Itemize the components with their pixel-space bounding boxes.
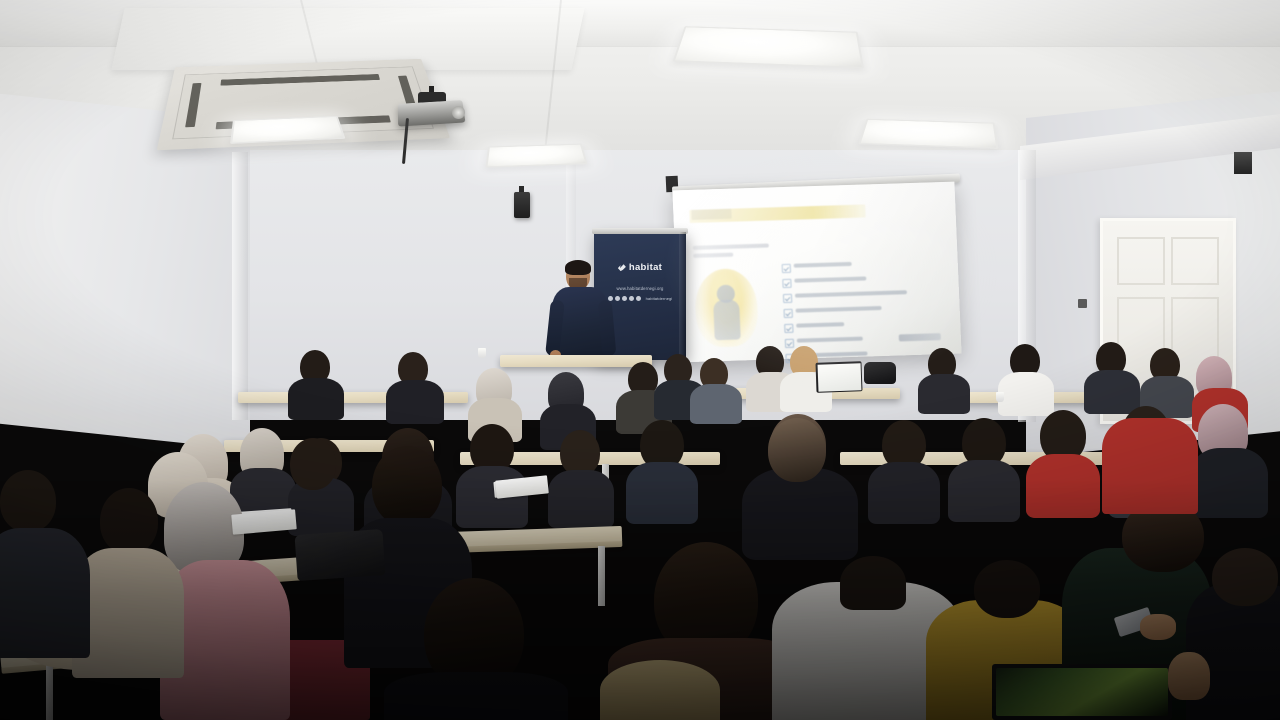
led-panel-light bbox=[485, 144, 587, 168]
tablet-display bbox=[996, 668, 1168, 716]
handbag bbox=[295, 529, 386, 581]
portrait-body bbox=[713, 300, 741, 341]
person-body bbox=[548, 470, 614, 528]
person-body bbox=[1084, 370, 1140, 414]
slide-title-text bbox=[691, 209, 731, 220]
room: habitat www.habitatdernegi.org habitatde… bbox=[0, 0, 1280, 720]
projector-lens-icon bbox=[452, 106, 465, 119]
handbag bbox=[864, 362, 896, 384]
projection-screen[interactable] bbox=[672, 182, 961, 363]
youtube-icon bbox=[629, 296, 634, 301]
person-head bbox=[372, 446, 442, 526]
paper-cup bbox=[996, 392, 1004, 402]
instagram-icon bbox=[622, 296, 627, 301]
person-body bbox=[1190, 448, 1268, 518]
banner-social-handle: habitatdernegi bbox=[646, 296, 673, 301]
slide-portrait-illustration bbox=[694, 268, 759, 348]
person-head bbox=[600, 660, 720, 720]
led-panel-light bbox=[858, 119, 998, 149]
check-box-icon bbox=[782, 279, 791, 288]
person-body bbox=[626, 462, 698, 524]
bullet-text bbox=[794, 262, 852, 268]
notebook-papers bbox=[495, 475, 549, 498]
person-head bbox=[100, 488, 158, 554]
slide-footer-logo bbox=[899, 333, 941, 341]
desk-leg bbox=[46, 660, 53, 720]
person-body bbox=[456, 466, 528, 528]
presentation-slide bbox=[683, 200, 953, 354]
check-box-icon bbox=[783, 294, 792, 303]
bullet-text bbox=[796, 306, 882, 313]
person-body bbox=[868, 462, 940, 524]
door-panel-top-left bbox=[1117, 237, 1165, 285]
person-head bbox=[1212, 548, 1278, 606]
ac-vent-left bbox=[185, 83, 201, 127]
slide-subtitle-line bbox=[693, 253, 733, 258]
laptop-display bbox=[817, 363, 861, 391]
person-head bbox=[290, 438, 336, 490]
person-head bbox=[974, 560, 1040, 618]
presenter-hair bbox=[565, 260, 591, 275]
wall-speaker bbox=[514, 192, 530, 218]
linkedin-icon bbox=[636, 296, 641, 301]
check-box-icon bbox=[785, 339, 794, 348]
notebook-papers bbox=[231, 509, 296, 535]
paper-cup bbox=[478, 348, 486, 358]
person-head bbox=[768, 418, 826, 482]
person-head bbox=[0, 470, 56, 532]
habitat-leaf-icon bbox=[618, 264, 626, 272]
bullet-text bbox=[795, 290, 907, 298]
door-panel-top-right bbox=[1171, 237, 1219, 285]
person-body bbox=[1026, 454, 1100, 518]
desk-leg bbox=[598, 546, 605, 606]
slide-subtitle-line bbox=[693, 244, 769, 250]
person-body bbox=[1102, 418, 1198, 514]
bullet-text bbox=[794, 276, 866, 282]
twitter-icon bbox=[615, 296, 620, 301]
wall-mounted-box bbox=[1234, 152, 1252, 174]
person-body bbox=[384, 672, 568, 720]
laptop-open[interactable] bbox=[815, 361, 862, 393]
person-head bbox=[840, 556, 906, 610]
presenter bbox=[548, 262, 614, 368]
led-panel-light bbox=[673, 26, 865, 68]
banner-brand-text: habitat bbox=[629, 262, 662, 273]
pilaster-left bbox=[232, 152, 248, 420]
check-box-icon bbox=[784, 324, 793, 333]
person-body bbox=[0, 528, 90, 658]
banner-top-rail bbox=[592, 228, 688, 234]
check-box-icon bbox=[784, 309, 793, 318]
person-body bbox=[998, 372, 1054, 416]
tablet-device[interactable] bbox=[992, 664, 1172, 720]
classroom-photo: habitat www.habitatdernegi.org habitatde… bbox=[0, 0, 1280, 720]
bullet-text bbox=[796, 322, 844, 328]
hand bbox=[1140, 614, 1176, 640]
power-outlet bbox=[1078, 299, 1087, 308]
hand bbox=[1168, 652, 1210, 700]
person-body bbox=[690, 384, 742, 424]
ac-vent-top bbox=[220, 74, 379, 86]
front-table bbox=[500, 355, 652, 367]
person-body bbox=[948, 460, 1020, 522]
check-box-icon bbox=[782, 264, 791, 273]
person-body bbox=[386, 380, 444, 424]
bullet-text bbox=[797, 337, 863, 343]
person-body bbox=[918, 374, 970, 414]
person-body bbox=[288, 378, 344, 420]
